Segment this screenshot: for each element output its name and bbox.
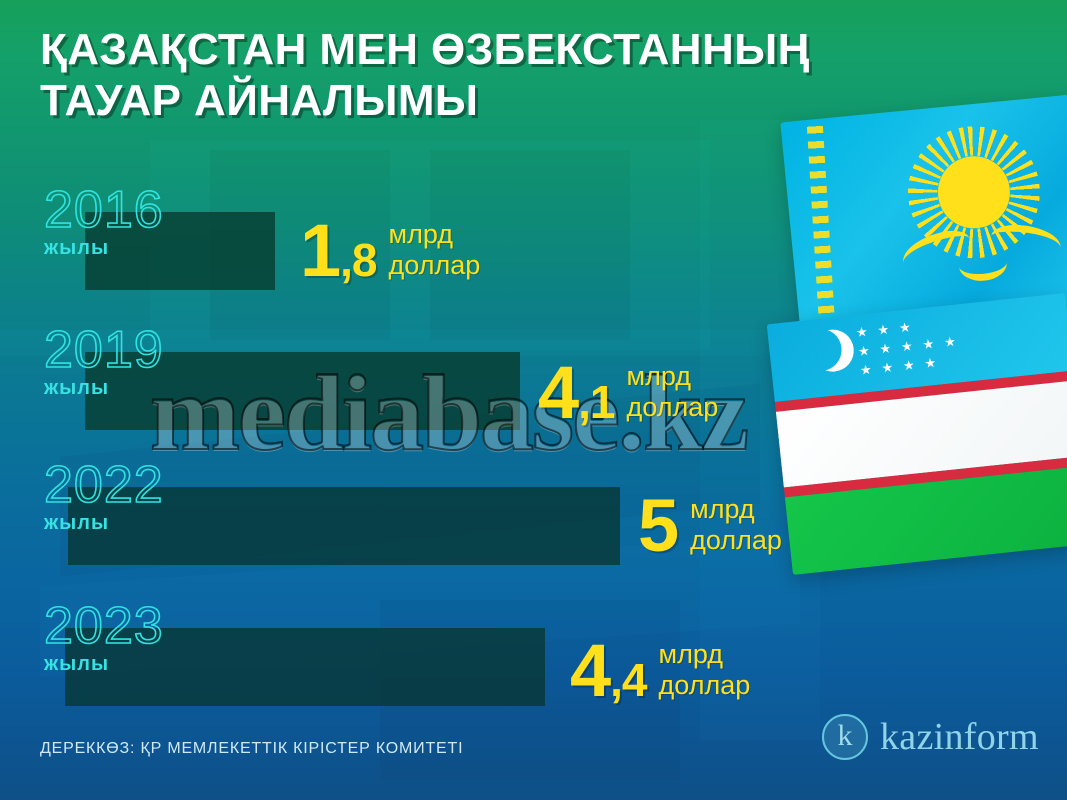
year-label-2016: 2016 жылы [44,186,194,260]
year-value: 2023 [44,602,194,651]
unit-line-2: доллар [690,525,782,556]
year-label-2023: 2023 жылы [44,602,194,676]
value-2023: 4,4 млрд доллар [570,638,750,705]
unit-line-2: доллар [389,250,481,281]
page-title: ҚАЗАҚСТАН МЕН ӨЗБЕКСТАННЫҢ ТАУАР АЙНАЛЫМ… [40,24,810,126]
unit-line-2: доллар [659,670,751,701]
unit-line-1: млрд [627,361,719,392]
value-integer: 5 [638,484,678,567]
flags-group: ★★★★★★★★★★★★ [773,108,1067,578]
value-integer: 4 [570,629,610,712]
unit-line-1: млрд [690,494,782,525]
value-number: 4,4 [570,638,647,705]
value-decimal: ,4 [610,654,646,706]
value-unit: млрд доллар [627,361,719,426]
year-suffix: жылы [44,653,194,676]
infographic-canvas: ҚАЗАҚСТАН МЕН ӨЗБЕКСТАННЫҢ ТАУАР АЙНАЛЫМ… [0,0,1067,800]
year-value: 2019 [44,326,194,375]
value-number: 4,1 [538,360,615,427]
value-2016: 1,8 млрд доллар [300,218,480,285]
kazinform-wordmark: kazinform [880,718,1039,756]
value-unit: млрд доллар [690,494,782,559]
value-number: 1,8 [300,218,377,285]
value-2022: 5 млрд доллар [638,493,782,560]
value-decimal: ,8 [340,234,376,286]
value-unit: млрд доллар [659,639,751,704]
year-label-2022: 2022 жылы [44,461,194,535]
source-note: ДЕРЕККӨЗ: ҚР МЕМЛЕКЕТТІК КІРІСТЕР КОМИТЕ… [40,740,463,758]
year-label-2019: 2019 жылы [44,326,194,400]
value-decimal: ,1 [578,376,614,428]
value-integer: 4 [538,351,578,434]
uzbekistan-flag-icon: ★★★★★★★★★★★★ [767,293,1067,575]
kazinform-logo[interactable]: k kazinform [822,714,1039,760]
kazinform-mark-icon: k [822,714,868,760]
year-suffix: жылы [44,377,194,400]
year-suffix: жылы [44,512,194,535]
unit-line-1: млрд [659,639,751,670]
value-2019: 4,1 млрд доллар [538,360,718,427]
year-suffix: жылы [44,237,194,260]
year-value: 2022 [44,461,194,510]
unit-line-1: млрд [389,219,481,250]
unit-line-2: доллар [627,392,719,423]
value-number: 5 [638,493,678,560]
kz-eagle-body [957,246,1008,283]
value-integer: 1 [300,209,340,292]
year-value: 2016 [44,186,194,235]
value-unit: млрд доллар [389,219,481,284]
